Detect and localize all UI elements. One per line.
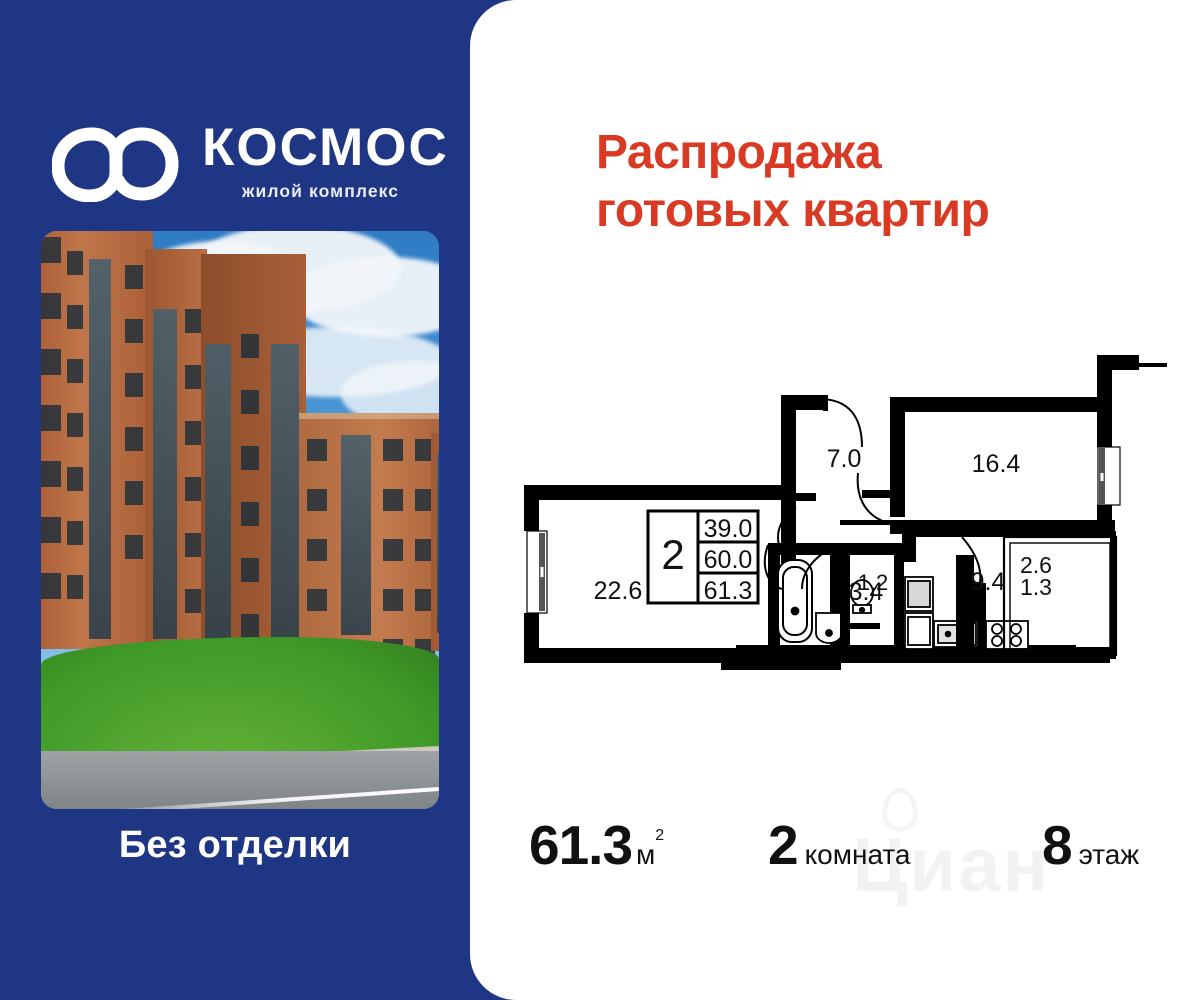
badge-living-area: 39.0 bbox=[704, 515, 753, 543]
wall bbox=[890, 397, 1112, 412]
door-leaf bbox=[840, 520, 892, 525]
wall bbox=[1097, 397, 1112, 447]
room-area-hall: 7.0 bbox=[827, 445, 862, 473]
wall bbox=[524, 485, 539, 531]
wall bbox=[894, 555, 904, 653]
wall bbox=[950, 523, 1110, 537]
wall-stub bbox=[796, 493, 816, 501]
infinity-loop-icon bbox=[52, 126, 180, 202]
floor-plan: 22.6 7.0 16.4 9.4 3.4 1.2 2.6 1.3 2 39.0… bbox=[510, 355, 1170, 700]
stat-rooms-value: 2 bbox=[768, 818, 798, 873]
area-badge: 2 39.0 60.0 61.3 bbox=[648, 511, 758, 605]
wall bbox=[1097, 355, 1139, 370]
stat-floor-label: этаж bbox=[1079, 839, 1139, 871]
wall-stub bbox=[862, 490, 896, 498]
door-swing bbox=[823, 399, 862, 447]
page-title-line-1: Распродажа bbox=[596, 126, 881, 179]
badge-total-area: 61.3 bbox=[704, 577, 753, 605]
badge-rooms: 2 bbox=[661, 531, 684, 578]
building-block bbox=[41, 231, 153, 649]
stat-area-value: 61.3 bbox=[529, 818, 632, 873]
wall bbox=[524, 648, 736, 663]
stove bbox=[986, 621, 1028, 649]
balcony-area-net: 1.3 bbox=[1020, 574, 1052, 600]
road-marking bbox=[42, 787, 439, 809]
building-block bbox=[299, 413, 439, 651]
wall bbox=[524, 485, 796, 500]
window bbox=[1098, 447, 1120, 505]
brand-subtitle: жилой комплекс bbox=[242, 181, 449, 201]
building-block bbox=[201, 254, 306, 649]
stat-floor-value: 8 bbox=[1042, 818, 1072, 873]
wall bbox=[840, 543, 902, 555]
apartment-stats: 61.3 м2 2 комната 8 этаж bbox=[512, 818, 1182, 888]
sink bbox=[816, 613, 842, 643]
window bbox=[527, 531, 547, 613]
room-area-living: 22.6 bbox=[594, 577, 643, 605]
finish-type-caption: Без отделки bbox=[0, 824, 470, 867]
page-title: Распродажа готовых квартир bbox=[596, 124, 1106, 240]
room-area-bedroom: 16.4 bbox=[972, 450, 1021, 478]
floor-plan-drawing: 22.6 7.0 16.4 9.4 3.4 1.2 2.6 1.3 2 39.0… bbox=[510, 355, 1170, 700]
kitchen-cabinets bbox=[905, 577, 933, 649]
stat-area-unit: м2 bbox=[636, 839, 664, 871]
brand-logo: КОСМОС жилой комплекс bbox=[52, 120, 442, 216]
stat-rooms-label: комната bbox=[805, 839, 911, 871]
wall bbox=[781, 395, 825, 410]
room-area-wc: 1.2 bbox=[858, 570, 889, 595]
lawn bbox=[41, 637, 439, 757]
page-title-line-2: готовых квартир bbox=[596, 182, 1106, 240]
stat-area: 61.3 м2 bbox=[529, 818, 664, 873]
brand-name: КОСМОС bbox=[202, 120, 449, 176]
building-block bbox=[145, 249, 207, 649]
road bbox=[41, 751, 439, 809]
brand-sidebar: КОСМОС жилой комплекс bbox=[0, 0, 470, 1000]
wall-stub bbox=[1127, 363, 1167, 367]
room-area-kitchen: 9.4 bbox=[971, 568, 1006, 596]
wall bbox=[781, 395, 796, 501]
residential-complex-photo bbox=[41, 231, 439, 809]
badge-area-no-balcony: 60.0 bbox=[704, 546, 753, 574]
stat-floor: 8 этаж bbox=[1042, 818, 1139, 873]
building-block bbox=[431, 433, 439, 651]
wall bbox=[890, 397, 905, 517]
stat-rooms: 2 комната bbox=[768, 818, 910, 873]
wall bbox=[1110, 531, 1116, 659]
door-leaf bbox=[823, 395, 828, 411]
fixture-counter bbox=[848, 623, 880, 629]
